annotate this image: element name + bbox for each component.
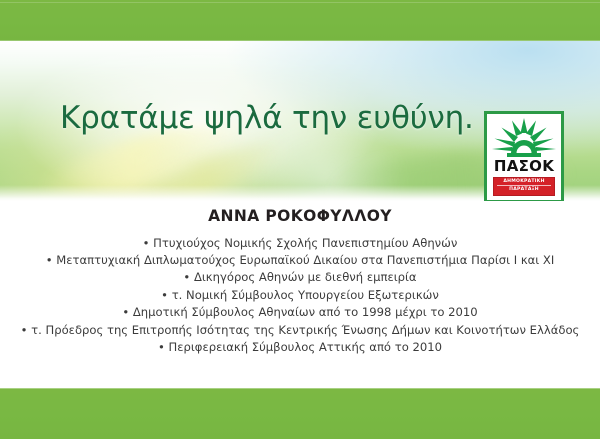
bullet-marker: • [46, 253, 53, 267]
bullet-marker: • [183, 270, 190, 284]
list-item: • Περιφερειακή Σύμβουλος Αττικής από το … [0, 339, 600, 356]
candidate-info-block: ΑΝΝΑ ΡΟΚΟΦΥΛΛΟΥ • Πτυχιούχος Νομικής Σχο… [0, 203, 600, 388]
list-item: • Δημοτική Σύμβουλος Αθηναίων από το 199… [0, 304, 600, 321]
credentials-list: • Πτυχιούχος Νομικής Σχολής Πανεπιστημίο… [0, 235, 600, 357]
campaign-poster: Κρατάμε ψηλά την ευθύνη. ΠΑΣΟΚ [0, 0, 600, 439]
hero-banner: Κρατάμε ψηλά την ευθύνη. ΠΑΣΟΚ [0, 41, 600, 201]
bullet-marker: • [21, 323, 28, 337]
rising-sun-icon [492, 118, 556, 158]
list-item: • Δικηγόρος Αθηνών με διεθνή εμπειρία [0, 269, 600, 286]
top-green-band [0, 0, 600, 41]
candidate-name: ΑΝΝΑ ΡΟΚΟΦΥΛΛΟΥ [0, 207, 600, 226]
credential-text: Περιφερειακή Σύμβουλος Αττικής από το 20… [169, 340, 442, 354]
campaign-slogan: Κρατάμε ψηλά την ευθύνη. [60, 103, 490, 134]
list-item: • τ. Νομική Σύμβουλος Υπουργείου Εξωτερι… [0, 287, 600, 304]
credential-text: Μεταπτυχιακή Διπλωματούχος Ευρωπαϊκού Δι… [56, 253, 554, 267]
bottom-green-band [0, 388, 600, 439]
credential-text: Δικηγόρος Αθηνών με διεθνή εμπειρία [194, 270, 417, 284]
list-item: • Πτυχιούχος Νομικής Σχολής Πανεπιστημίο… [0, 235, 600, 252]
pasok-wordmark: ΠΑΣΟΚ [494, 159, 554, 174]
list-item: • Μεταπτυχιακή Διπλωματούχος Ευρωπαϊκού … [0, 252, 600, 269]
pasok-logo: ΠΑΣΟΚ ΔΗΜΟΚΡΑΤΙΚΗ ΠΑΡΑΤΑΞΗ [484, 111, 564, 201]
pasok-subtitle-line-1: ΔΗΜΟΚΡΑΤΙΚΗ [494, 179, 554, 184]
pasok-subtitle-banner: ΔΗΜΟΚΡΑΤΙΚΗ ΠΑΡΑΤΑΞΗ [493, 177, 555, 196]
credential-text: Δημοτική Σύμβουλος Αθηναίων από το 1998 … [133, 305, 478, 319]
pasok-subtitle-line-2: ΠΑΡΑΤΑΞΗ [494, 187, 554, 192]
bullet-marker: • [161, 288, 168, 302]
bullet-marker: • [122, 305, 129, 319]
list-item: • τ. Πρόεδρος της Επιτροπής Ισότητας της… [0, 322, 600, 339]
bullet-marker: • [158, 340, 165, 354]
credential-text: τ. Νομική Σύμβουλος Υπουργείου Εξωτερικώ… [172, 288, 439, 302]
bullet-marker: • [143, 236, 150, 250]
credential-text: Πτυχιούχος Νομικής Σχολής Πανεπιστημίου … [153, 236, 457, 250]
credential-text: τ. Πρόεδρος της Επιτροπής Ισότητας της Κ… [31, 323, 579, 337]
